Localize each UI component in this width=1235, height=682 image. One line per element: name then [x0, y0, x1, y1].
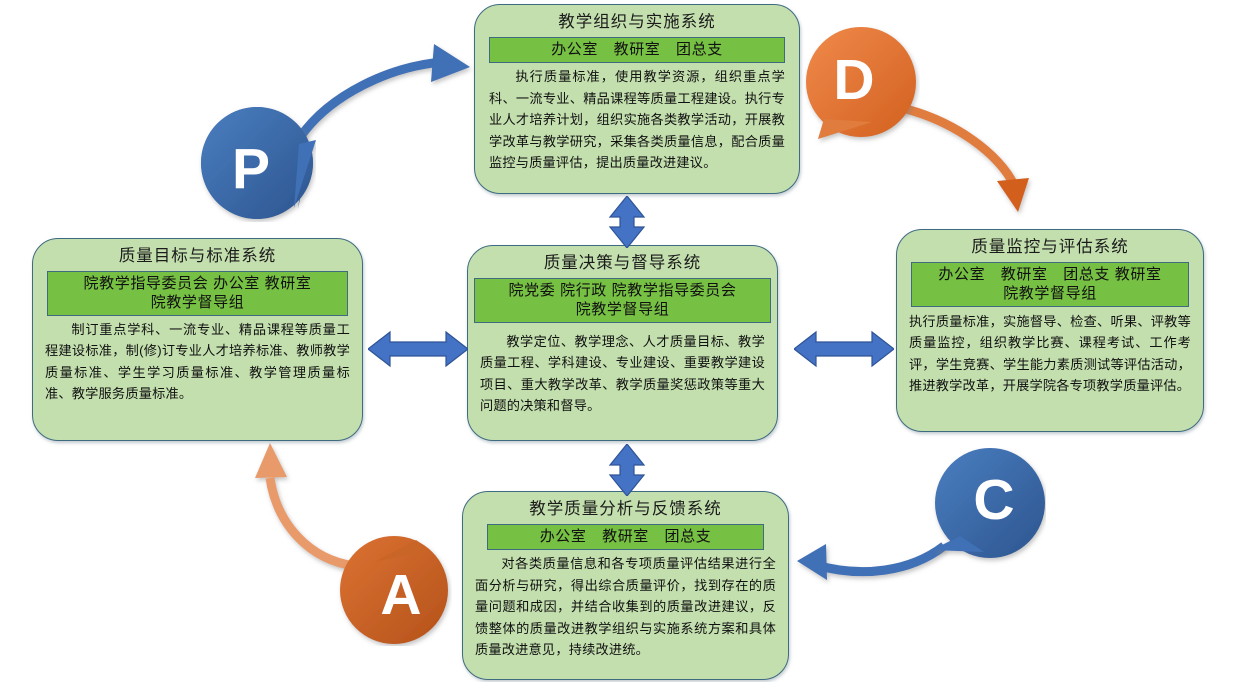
- box-org-line-1: 院党委 院行政 院教学指导委员会: [477, 281, 768, 300]
- box-org-line-1: 院教学指导委员会 办公室 教研室: [50, 274, 345, 293]
- box-org-line-1: 办公室 教研室 团总支 教研室: [914, 265, 1186, 284]
- pdca-badge-d-shape: [802, 27, 920, 145]
- box-org-bar: 办公室 教研室 团总支: [489, 37, 785, 64]
- box-title: 教学质量分析与反馈系统: [463, 499, 788, 520]
- box-body-text: 制订重点学科、一流专业、精品课程等质量工程建设标准，制(修)订专业人才培养标准、…: [33, 318, 362, 409]
- box-org-bar: 院党委 院行政 院教学指导委员会 院教学督导组: [474, 278, 771, 323]
- box-org-bar: 院教学指导委员会 办公室 教研室 院教学督导组: [47, 271, 348, 316]
- arrow-left-center-bidirectional: [368, 330, 468, 368]
- box-title: 质量目标与标准系统: [33, 246, 362, 267]
- box-org-bar: 办公室 教研室 团总支: [487, 524, 764, 551]
- pdca-badge-p-shape: [198, 104, 316, 222]
- box-teaching-organization-system[interactable]: 教学组织与实施系统 办公室 教研室 团总支 执行质量标准，使用教学资源，组织重点…: [474, 4, 800, 194]
- box-org-bar: 办公室 教研室 团总支 教研室 院教学督导组: [911, 262, 1189, 307]
- arrow-center-right-bidirectional: [794, 330, 894, 368]
- pdca-badge-a-shape: [334, 528, 452, 646]
- box-body-text: 执行质量标准，使用教学资源，组织重点学科、一流专业、精品课程等质量工程建设。执行…: [475, 65, 799, 177]
- box-body-text: 对各类质量信息和各专项质量评估结果进行全面分析与研究，得出综合质量评价，找到存在…: [463, 552, 788, 664]
- pdca-badge-p[interactable]: P: [198, 104, 316, 222]
- box-body-text: 教学定位、教学理念、人才质量目标、教学质量工程、学科建设、专业建设、重要教学建设…: [468, 325, 777, 421]
- box-quality-analysis-feedback-system[interactable]: 教学质量分析与反馈系统 办公室 教研室 团总支 对各类质量信息和各专项质量评估结…: [462, 491, 789, 680]
- arrow-center-bottom-bidirectional: [608, 444, 646, 496]
- box-org-line-2: 院教学督导组: [477, 300, 768, 319]
- box-org-line-2: 院教学督导组: [50, 293, 345, 312]
- box-title: 教学组织与实施系统: [475, 12, 799, 33]
- box-quality-goals-standards-system[interactable]: 质量目标与标准系统 院教学指导委员会 办公室 教研室 院教学督导组 制订重点学科…: [32, 238, 363, 441]
- box-title: 质量决策与督导系统: [468, 253, 777, 274]
- box-org-line-2: 院教学督导组: [914, 284, 1186, 303]
- arrow-c-curve: [797, 544, 944, 580]
- box-quality-monitoring-evaluation-system[interactable]: 质量监控与评估系统 办公室 教研室 团总支 教研室 院教学督导组 执行质量标准，…: [896, 229, 1204, 432]
- box-quality-decision-supervision-system[interactable]: 质量决策与督导系统 院党委 院行政 院教学指导委员会 院教学督导组 教学定位、教…: [467, 245, 778, 441]
- box-body-text: 执行质量标准，实施督导、检查、听果、评教等质量监控，组织教学比赛、课程考试、工作…: [897, 310, 1203, 401]
- pdca-badge-c[interactable]: C: [928, 448, 1046, 566]
- box-title: 质量监控与评估系统: [897, 237, 1203, 258]
- arrow-p-curve: [301, 44, 470, 136]
- pdca-badge-a[interactable]: A: [334, 528, 452, 646]
- diagram-canvas: 教学组织与实施系统 办公室 教研室 团总支 执行质量标准，使用教学资源，组织重点…: [0, 0, 1235, 682]
- arrow-top-center-bidirectional: [608, 196, 646, 248]
- pdca-badge-d[interactable]: D: [802, 27, 920, 145]
- pdca-badge-c-shape: [928, 448, 1046, 566]
